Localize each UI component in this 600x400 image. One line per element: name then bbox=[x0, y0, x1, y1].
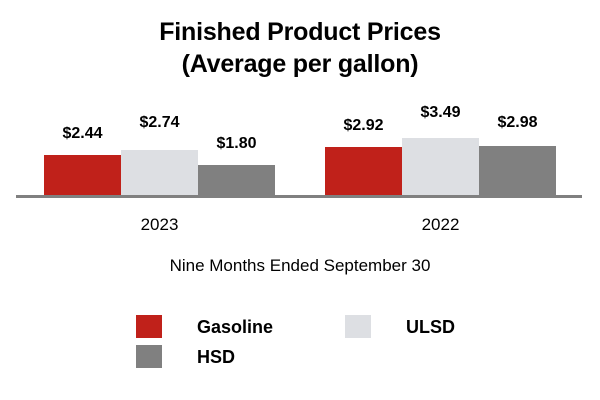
legend-label-ulsd: ULSD bbox=[406, 316, 455, 338]
bar-value-label-2023-hsd: $1.80 bbox=[198, 135, 275, 153]
legend-swatch-ulsd-icon bbox=[345, 315, 371, 338]
legend-label-hsd: HSD bbox=[197, 346, 235, 368]
finished-product-prices-chart: Finished Product Prices (Average per gal… bbox=[0, 0, 600, 400]
bar-2023-hsd[interactable] bbox=[198, 165, 275, 195]
bar-2022-ulsd[interactable] bbox=[402, 138, 479, 195]
x-axis-line bbox=[16, 195, 582, 198]
bar-2023-gasoline[interactable] bbox=[44, 155, 121, 195]
bar-2022-gasoline[interactable] bbox=[325, 147, 402, 195]
category-label-2023: 2023 bbox=[121, 215, 198, 235]
bar-value-label-2022-gasoline: $2.92 bbox=[325, 117, 402, 135]
x-axis-title: Nine Months Ended September 30 bbox=[0, 256, 600, 276]
bar-value-label-2022-hsd: $2.98 bbox=[479, 114, 556, 132]
legend-swatch-gasoline-icon bbox=[136, 315, 162, 338]
legend-swatch-hsd-icon bbox=[136, 345, 162, 368]
bar-value-label-2023-gasoline: $2.44 bbox=[44, 125, 121, 143]
bar-2022-hsd[interactable] bbox=[479, 146, 556, 195]
legend-label-gasoline: Gasoline bbox=[197, 316, 273, 338]
bar-2023-ulsd[interactable] bbox=[121, 150, 198, 195]
category-label-2022: 2022 bbox=[402, 215, 479, 235]
chart-legend: Gasoline ULSD HSD bbox=[0, 310, 600, 380]
bar-value-label-2023-ulsd: $2.74 bbox=[121, 114, 198, 132]
bar-value-label-2022-ulsd: $3.49 bbox=[402, 104, 479, 122]
